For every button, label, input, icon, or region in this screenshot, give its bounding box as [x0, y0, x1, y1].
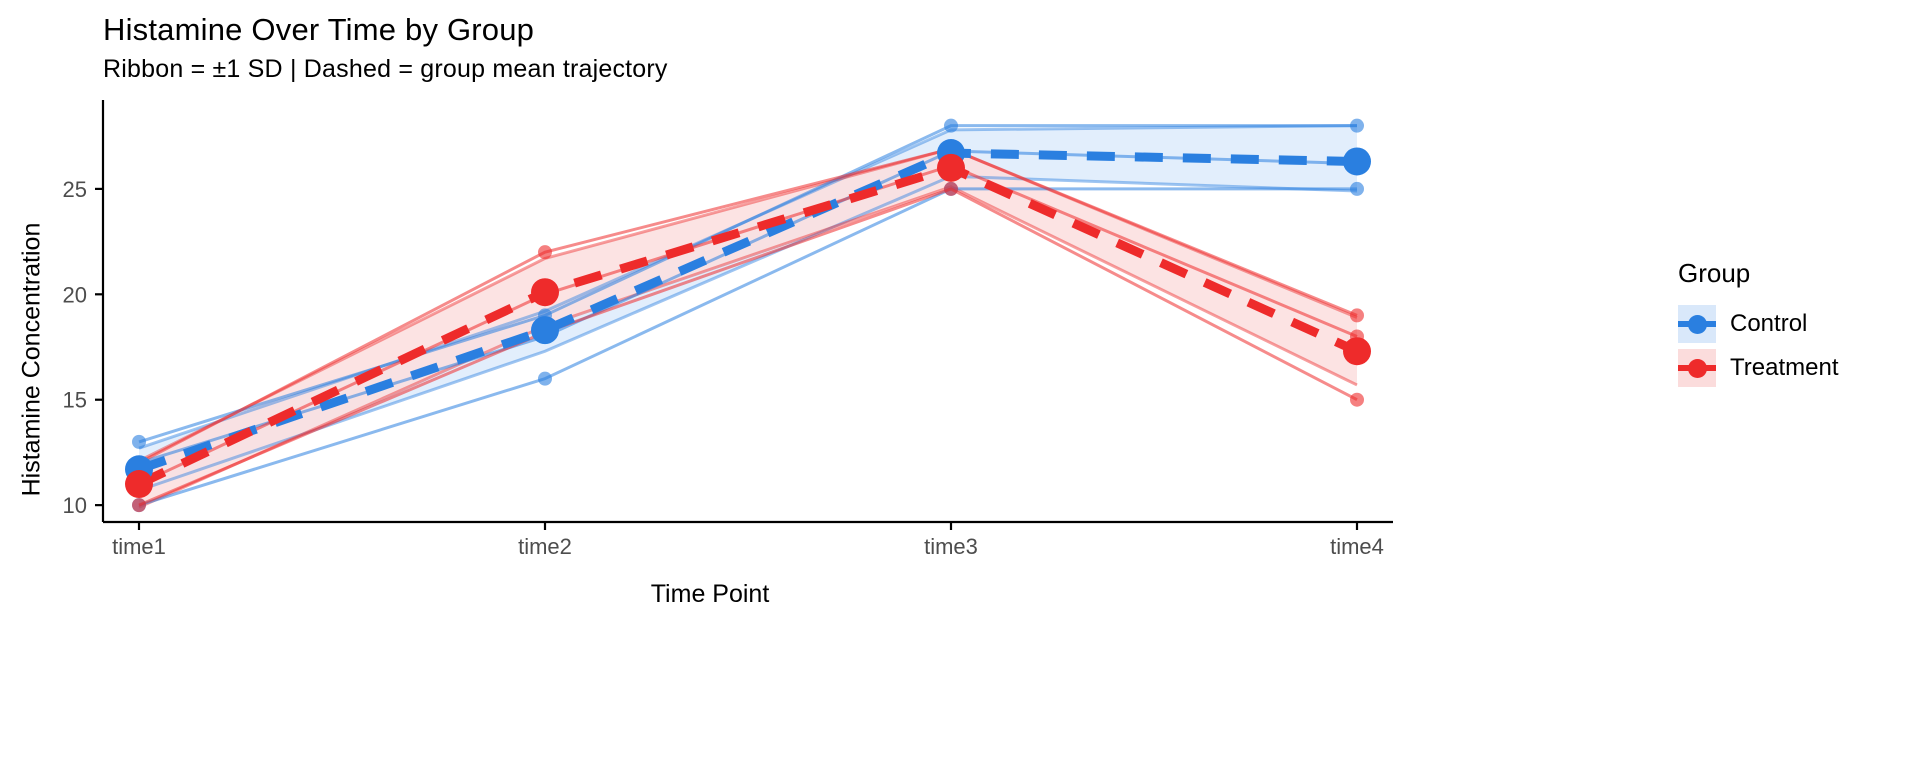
legend-item-treatment[interactable]: Treatment	[1678, 349, 1838, 387]
legend-title: Group	[1678, 258, 1838, 289]
subject-point	[538, 372, 552, 386]
legend-item-label: Control	[1730, 310, 1807, 338]
mean-point	[937, 154, 965, 182]
mean-point	[125, 470, 153, 498]
x-tick-label: time2	[518, 534, 572, 559]
mean-point	[1343, 337, 1371, 365]
subject-point	[1350, 308, 1364, 322]
chart-root: Histamine Over Time by Group Ribbon = ±1…	[0, 0, 1920, 768]
y-tick-label: 20	[63, 282, 87, 307]
y-tick-label: 25	[63, 177, 87, 202]
subject-point	[944, 182, 958, 196]
subject-point	[944, 119, 958, 133]
legend: Group ControlTreatment	[1678, 258, 1838, 393]
subject-point	[1350, 393, 1364, 407]
subject-point	[132, 435, 146, 449]
chart-title: Histamine Over Time by Group	[103, 12, 534, 48]
x-tick-label: time4	[1330, 534, 1384, 559]
x-tick-label: time3	[924, 534, 978, 559]
y-axis-title: Histamine Concentration	[18, 150, 47, 570]
y-tick-label: 15	[63, 388, 87, 413]
mean-point	[531, 278, 559, 306]
legend-key-icon	[1678, 305, 1716, 343]
subject-point	[538, 245, 552, 259]
x-axis-title: Time Point	[0, 580, 1420, 609]
subject-point	[1350, 119, 1364, 133]
mean-point	[1343, 147, 1371, 175]
legend-dot-icon	[1688, 315, 1707, 334]
plot-panel: 10152025time1time2time3time4	[103, 105, 1393, 550]
chart-subtitle: Ribbon = ±1 SD | Dashed = group mean tra…	[103, 55, 668, 84]
y-tick-label: 10	[63, 493, 87, 518]
mean-point	[531, 316, 559, 344]
plot-svg: 10152025time1time2time3time4	[103, 105, 1393, 550]
subject-point	[132, 498, 146, 512]
legend-item-control[interactable]: Control	[1678, 305, 1838, 343]
legend-dot-icon	[1688, 359, 1707, 378]
ribbon-control	[139, 126, 1357, 491]
x-tick-label: time1	[112, 534, 166, 559]
subject-point	[1350, 182, 1364, 196]
legend-entries: ControlTreatment	[1678, 305, 1838, 387]
legend-item-label: Treatment	[1730, 354, 1838, 382]
legend-key-icon	[1678, 349, 1716, 387]
